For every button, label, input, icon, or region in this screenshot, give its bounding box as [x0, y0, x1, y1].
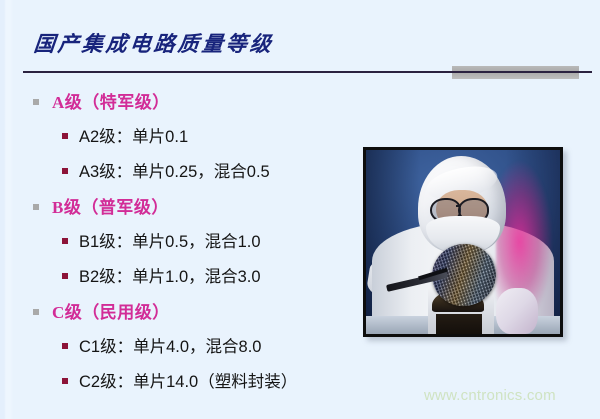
square-bullet-icon: [62, 343, 68, 349]
list-item-label: C2级：单片14.0（塑料封装）: [79, 368, 297, 392]
square-bullet-icon: [62, 273, 68, 279]
watermark: www.cntronics.com: [424, 387, 556, 404]
list-item: B2级：单片1.0，混合3.0: [0, 263, 352, 298]
photo-glasses-bridge: [456, 205, 461, 207]
list-item: A2级：单片0.1: [0, 123, 352, 158]
page-title: 国产集成电路质量等级: [32, 28, 275, 58]
list-item: C2级：单片14.0（塑料封装）: [0, 368, 352, 403]
square-bullet-icon: [33, 309, 39, 315]
list-item: C1级：单片4.0，混合8.0: [0, 333, 352, 368]
list-item: A3级：单片0.25，混合0.5: [0, 158, 352, 193]
list-item-label: B级（普军级）: [52, 193, 169, 218]
slide-photo: [363, 147, 563, 337]
square-bullet-icon: [62, 378, 68, 384]
slide-title-area: 国产集成电路质量等级: [0, 0, 600, 84]
list-item: B级（普军级）: [0, 193, 352, 228]
photo-cassette-base: [436, 314, 482, 334]
photo-gloved-hand: [496, 288, 538, 334]
title-divider-rule: [23, 71, 592, 73]
square-bullet-icon: [62, 133, 68, 139]
square-bullet-icon: [33, 204, 39, 210]
photo-image: [366, 150, 560, 334]
list-item: B1级：单片0.5，混合1.0: [0, 228, 352, 263]
list-item-label: A级（特军级）: [52, 88, 170, 113]
list-item: A级（特军级）: [0, 88, 352, 123]
list-item-label: B1级：单片0.5，混合1.0: [79, 228, 261, 252]
list-item: C级（民用级）: [0, 298, 352, 333]
list-item-label: B2级：单片1.0，混合3.0: [79, 263, 261, 287]
square-bullet-icon: [62, 168, 68, 174]
list-item-label: A2级：单片0.1: [79, 123, 188, 147]
square-bullet-icon: [33, 99, 39, 105]
list-item-label: A3级：单片0.25，混合0.5: [79, 158, 270, 182]
slide-canvas: 国产集成电路质量等级 A级（特军级） A2级：单片0.1 A3级：单片0.25，…: [0, 0, 600, 419]
list-item-label: C1级：单片4.0，混合8.0: [79, 333, 261, 357]
bullet-list: A级（特军级） A2级：单片0.1 A3级：单片0.25，混合0.5 B级（普军…: [0, 88, 352, 403]
list-item-label: C级（民用级）: [52, 298, 170, 323]
square-bullet-icon: [62, 238, 68, 244]
